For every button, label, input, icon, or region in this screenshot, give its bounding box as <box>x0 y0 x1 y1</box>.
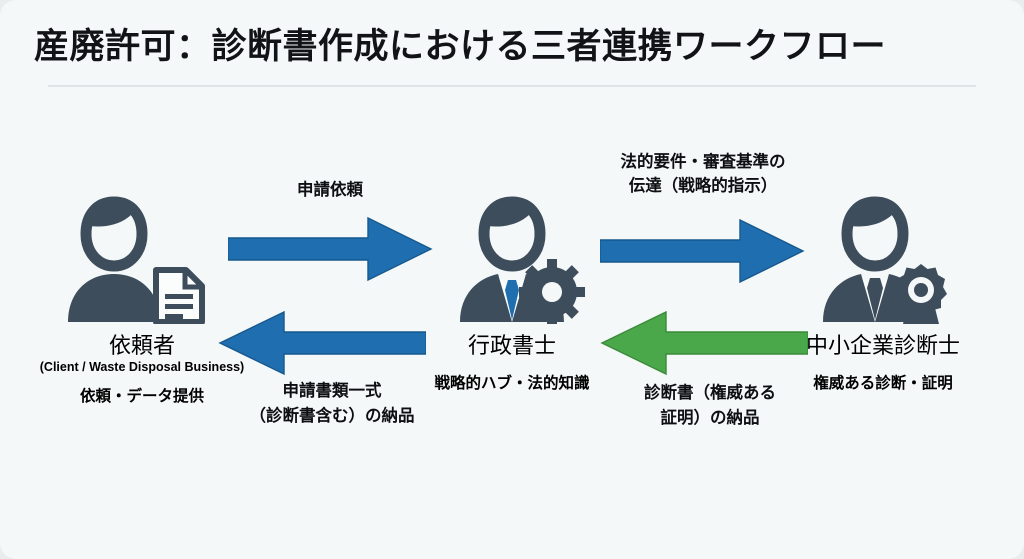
actor-client-name: 依頼者 <box>37 328 247 360</box>
slide-canvas: 産廃許可：診断書作成における三者連携ワークフロー 申請依頼 法的要件・審査基準の… <box>0 0 1024 559</box>
page-title: 産廃許可：診断書作成における三者連携ワークフロー <box>34 18 886 69</box>
actor-client: 依頼者 (Client / Waste Disposal Business) 依… <box>37 196 247 406</box>
person-with-gear-icon <box>432 196 592 324</box>
arrow-request <box>228 216 433 282</box>
arrow-delivery-diagnosis-label-line2: 証明）の納品 <box>610 408 810 429</box>
arrow-delivery-documents <box>218 310 426 376</box>
person-with-award-icon <box>803 196 963 324</box>
arrow-delivery-diagnosis <box>600 310 808 376</box>
actor-gyoseishoshi-name: 行政書士 <box>407 328 617 360</box>
actor-gyoseishoshi: 行政書士 戦略的ハブ・法的知識 <box>407 196 617 393</box>
title-divider <box>48 85 976 87</box>
person-with-document-icon <box>62 196 222 324</box>
arrow-instruction-label-line1: 法的要件・審査基準の <box>578 152 828 173</box>
actor-client-name-en: (Client / Waste Disposal Business) <box>37 360 247 374</box>
arrow-instruction-label-line2: 伝達（戦略的指示） <box>578 176 828 197</box>
actor-gyoseishoshi-role: 戦略的ハブ・法的知識 <box>407 371 617 393</box>
actor-shindanshi-role: 権威ある診断・証明 <box>778 371 988 393</box>
actor-shindanshi: 中小企業診断士 権威ある診断・証明 <box>778 196 988 393</box>
arrow-delivery-documents-label-line2: （診断書含む）の納品 <box>222 406 442 427</box>
actor-client-role: 依頼・データ提供 <box>37 384 247 406</box>
arrow-instruction <box>600 218 805 284</box>
actor-shindanshi-name: 中小企業診断士 <box>778 328 988 360</box>
